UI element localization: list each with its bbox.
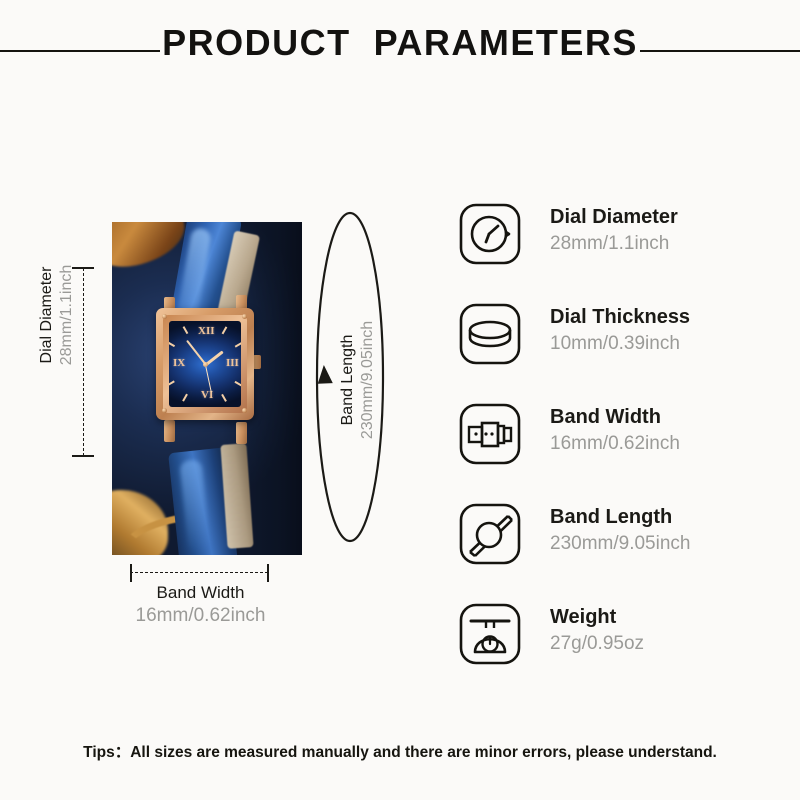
band-width-cap-right [267,564,269,582]
dial-tick [183,394,188,402]
parameter-list: Dial Diameter 28mm/1.1inch Dial Thicknes… [458,200,788,700]
product-photo: XII III VI IX [112,222,302,555]
case-screw [162,408,167,413]
dial-pivot [203,362,208,367]
parameter-text: Dial Thickness 10mm/0.39inch [550,300,690,358]
band-buckle-icon [458,402,522,466]
parameter-title: Dial Thickness [550,304,690,331]
dial-tick [235,342,241,347]
page-header: PRODUCT PARAMETERS [0,0,800,100]
watch-dial-icon [458,202,522,266]
dial-numeral-12: XII [198,325,215,337]
parameter-text: Band Length 230mm/9.05inch [550,500,690,558]
watch-lug [236,422,247,444]
band-width-dimension-line [130,572,268,573]
dial-tick [222,326,227,334]
dial-diameter-cap-bottom [72,455,94,457]
dial-diameter-annotation: Dial Diameter 28mm/1.1inch [37,220,77,410]
parameter-title: Band Length [550,504,690,531]
band-length-annotation-title: Band Length [338,270,358,490]
dial-tick [235,381,241,386]
page-title: PRODUCT PARAMETERS [0,22,800,64]
parameter-text: Band Width 16mm/0.62inch [550,400,680,458]
tips-note: Tips：All sizes are measured manually and… [0,740,800,762]
dial-numeral-9: IX [173,357,185,369]
parameter-text: Dial Diameter 28mm/1.1inch [550,200,678,258]
band-width-annotation-title: Band Width [98,582,303,604]
dial-numeral-3: III [226,357,239,369]
dial-diameter-annotation-title: Dial Diameter [37,220,57,410]
dial-tick [183,326,188,334]
parameter-value: 230mm/9.05inch [550,531,690,558]
parameter-title: Band Width [550,404,680,431]
parameter-value: 10mm/0.39inch [550,331,690,358]
band-width-cap-left [130,564,132,582]
parameter-row-band-length: Band Length 230mm/9.05inch [458,500,788,600]
parameter-title: Dial Diameter [550,204,678,231]
parameter-text: Weight 27g/0.95oz [550,600,644,658]
parameter-value: 27g/0.95oz [550,631,644,658]
parameter-row-dial-diameter: Dial Diameter 28mm/1.1inch [458,200,788,300]
case-screw [242,314,247,319]
disc-thickness-icon [458,302,522,366]
strap-length-icon [458,502,522,566]
dial-diameter-annotation-value: 28mm/1.1inch [57,220,77,410]
watch-lug [164,420,175,442]
parameter-title: Weight [550,604,644,631]
band-length-annotation-value: 230mm/9.05inch [358,270,378,490]
case-screw [162,314,167,319]
kitchen-scale-icon [458,602,522,666]
case-screw [242,408,247,413]
parameter-row-weight: Weight 27g/0.95oz [458,600,788,700]
dial-diameter-dimension-line [83,268,84,456]
watch-crown [253,355,261,369]
parameter-row-band-width: Band Width 16mm/0.62inch [458,400,788,500]
dial-tick [222,394,227,402]
dial-tick [169,381,175,386]
band-width-annotation: Band Width 16mm/0.62inch [98,582,303,629]
parameter-row-dial-thickness: Dial Thickness 10mm/0.39inch [458,300,788,400]
parameter-value: 28mm/1.1inch [550,231,678,258]
parameter-value: 16mm/0.62inch [550,431,680,458]
band-length-annotation: Band Length 230mm/9.05inch [312,208,388,546]
watch-dial: XII III VI IX [169,321,241,407]
band-width-annotation-value: 16mm/0.62inch [98,604,303,629]
dial-tick [169,342,175,347]
title-rule-right [640,50,800,52]
